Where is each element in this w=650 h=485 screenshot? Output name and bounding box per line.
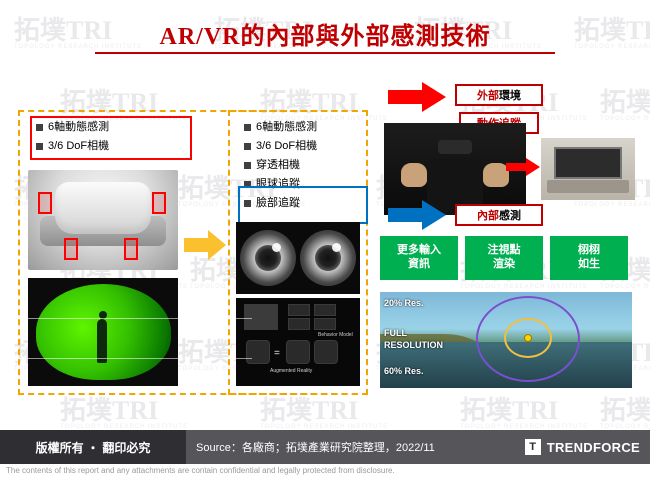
square-bullet-icon xyxy=(244,143,251,150)
face-photo-caption: Augmented Reality xyxy=(270,368,312,374)
copyright-badge: 版權所有 ‧ 翻印必究 xyxy=(0,430,186,464)
list-item: 穿透相機 xyxy=(244,158,364,174)
avatar-body xyxy=(97,319,107,363)
glint xyxy=(272,243,281,252)
sensor-highlight-box xyxy=(124,238,138,260)
resolution-label-top: 20% Res. xyxy=(384,298,424,308)
square-bullet-icon xyxy=(244,162,251,169)
resolution-label-full-2: RESOLUTION xyxy=(384,340,443,350)
headset-on-head xyxy=(438,140,472,155)
face-cell xyxy=(314,318,336,330)
face-render xyxy=(246,340,270,364)
red-arrow-small-icon xyxy=(506,158,540,176)
eye-right xyxy=(300,230,356,286)
right-feature-1: 3/6 DoF相機 xyxy=(256,139,317,155)
internal-sense-red: 內部 xyxy=(477,207,499,223)
eye-face-tracking-highlight-box xyxy=(238,186,368,224)
glint xyxy=(332,243,341,252)
internal-sense-black: 感測 xyxy=(499,207,521,223)
gbox0-line2: 資訊 xyxy=(408,258,430,270)
eye-left xyxy=(240,230,296,286)
square-bullet-icon xyxy=(244,124,251,131)
green-box-foveated-rendering: 注視點渲染 xyxy=(465,236,543,280)
resolution-divider xyxy=(0,318,252,319)
list-item: 6軸動態感測 xyxy=(244,120,364,136)
left-feature-highlight-box xyxy=(30,116,192,160)
green-box-lifelike: 栩栩如生 xyxy=(550,236,628,280)
sensor-highlight-box xyxy=(38,192,52,214)
laptop-photo xyxy=(541,138,635,200)
blue-arrow-icon xyxy=(388,200,446,230)
face-tracking-photo: Behavior Model = Augmented Reality xyxy=(236,298,360,386)
trendforce-wordmark: TRENDFORCE xyxy=(547,440,640,455)
slide-content: 6軸動態感測 3/6 DoF相機 6軸動態感測 3/6 DoF相機 穿透相機 眼… xyxy=(0,0,650,430)
behavior-model-label: Behavior Model xyxy=(318,332,353,338)
internal-sensing-callout: 內部感測 xyxy=(455,204,543,226)
gbox1-line1: 注視點 xyxy=(488,244,521,256)
gbox2-line2: 如生 xyxy=(578,258,600,270)
copyright-text: 版權所有 ‧ 翻印必究 xyxy=(36,439,151,456)
trendforce-logo: T TRENDFORCE xyxy=(525,430,640,464)
external-env-red: 外部 xyxy=(477,87,499,103)
resolution-divider xyxy=(0,358,252,359)
list-item: 3/6 DoF相機 xyxy=(244,139,364,155)
face-render xyxy=(286,340,310,364)
laptop-screen xyxy=(554,147,622,179)
gbox1-line2: 渲染 xyxy=(493,258,515,270)
vr-guardian-photo xyxy=(28,278,178,386)
source-note: Source：各廠商；拓墣產業研究院整理，2022/11 xyxy=(196,430,435,464)
resolution-label-full-1: FULL xyxy=(384,328,407,338)
resolution-label-bottom: 60% Res. xyxy=(384,366,424,376)
yellow-arrow-icon xyxy=(184,228,226,262)
gaze-point-icon xyxy=(524,334,532,342)
headset-thumb xyxy=(244,304,278,330)
laptop-keyboard xyxy=(547,180,630,192)
sensor-highlight-box xyxy=(64,238,78,260)
external-environment-callout: 外部環境 xyxy=(455,84,543,106)
vr-headset-photo xyxy=(28,170,178,270)
green-box-more-input: 更多輸入資訊 xyxy=(380,236,458,280)
red-arrow-icon xyxy=(388,82,446,112)
gbox0-line1: 更多輸入 xyxy=(397,244,441,256)
source-text: Source：各廠商；拓墣產業研究院整理，2022/11 xyxy=(196,439,435,455)
gbox2-line1: 栩栩 xyxy=(578,244,600,256)
right-feature-2: 穿透相機 xyxy=(256,158,300,174)
face-cell xyxy=(288,304,310,316)
hand-left xyxy=(401,163,427,187)
trendforce-mark-icon: T xyxy=(525,439,541,455)
equals-sign: = xyxy=(274,348,280,359)
right-feature-0: 6軸動態感測 xyxy=(256,120,317,136)
sensor-highlight-box xyxy=(152,192,166,214)
face-cell xyxy=(314,304,336,316)
face-cell xyxy=(288,318,310,330)
headset-body xyxy=(55,182,151,234)
face-render xyxy=(314,340,338,364)
eye-tracking-photo xyxy=(236,222,360,294)
disclaimer-text: The contents of this report and any atta… xyxy=(6,466,650,475)
external-env-black: 環境 xyxy=(499,87,521,103)
